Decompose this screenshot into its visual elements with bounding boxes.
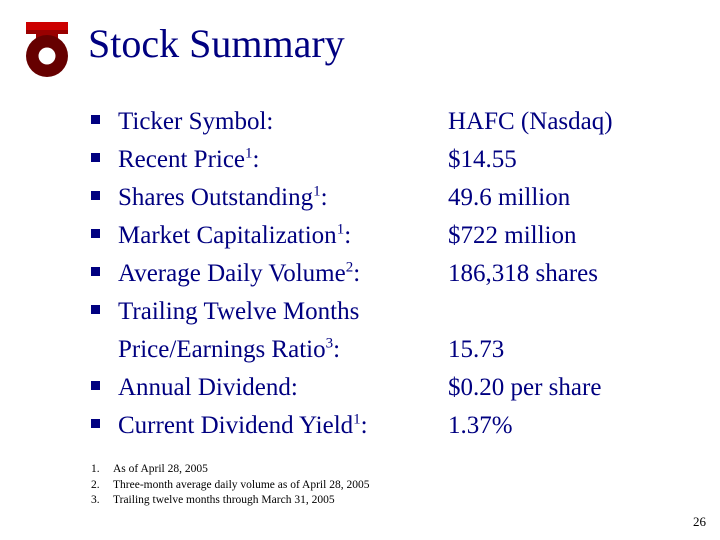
list-item-label: Price/Earnings Ratio3: bbox=[118, 332, 448, 368]
list-item-label-text: Current Dividend Yield bbox=[118, 412, 353, 439]
footnote-ref: 1 bbox=[313, 184, 321, 200]
footnote-number: 3. bbox=[91, 493, 113, 509]
bullet-marker bbox=[88, 142, 118, 162]
list-item-value: $14.55 bbox=[448, 142, 688, 178]
bullet-marker bbox=[88, 408, 118, 428]
bullet-marker-blank bbox=[88, 332, 118, 352]
footnote-text: Three-month average daily volume as of A… bbox=[113, 478, 369, 494]
slide: Stock Summary Ticker Symbol: HAFC (Nasda… bbox=[0, 0, 720, 540]
list-item-label: Trailing Twelve Months bbox=[118, 294, 448, 330]
footnote: 2. Three-month average daily volume as o… bbox=[91, 478, 369, 494]
list-item-value: $722 million bbox=[448, 218, 688, 254]
bullet-marker bbox=[88, 180, 118, 200]
list-item-label-tail: : bbox=[353, 260, 360, 287]
list-item-value: 186,318 shares bbox=[448, 256, 688, 292]
list-item-label-tail: : bbox=[253, 146, 260, 173]
footnote-ref: 1 bbox=[245, 146, 253, 162]
list-item-label-text: Average Daily Volume bbox=[118, 260, 346, 287]
list-item-value: HAFC (Nasdaq) bbox=[448, 104, 688, 140]
bullet-marker bbox=[88, 104, 118, 124]
list-item-value: 1.37% bbox=[448, 408, 688, 444]
list-item-label-tail: : bbox=[361, 412, 368, 439]
list-item-label-tail: : bbox=[321, 184, 328, 211]
footnote: 1. As of April 28, 2005 bbox=[91, 462, 369, 478]
list-item-value: 49.6 million bbox=[448, 180, 688, 216]
list-item-label-text: Market Capitalization bbox=[118, 222, 337, 249]
list-item-label-tail: : bbox=[333, 336, 340, 363]
list-item-label: Average Daily Volume2: bbox=[118, 256, 448, 292]
list-item-label: Annual Dividend: bbox=[118, 370, 448, 406]
list-item-value: $0.20 per share bbox=[448, 370, 688, 406]
list-item: Ticker Symbol: HAFC (Nasdaq) bbox=[88, 104, 688, 140]
list-item: Trailing Twelve Months bbox=[88, 294, 688, 330]
list-item-label-tail: : bbox=[344, 222, 351, 249]
footnote-ref: 3 bbox=[326, 336, 334, 352]
list-item-label-text: Recent Price bbox=[118, 146, 245, 173]
list-item: Recent Price1: $14.55 bbox=[88, 142, 688, 178]
footnote-number: 2. bbox=[91, 478, 113, 494]
footnote-text: As of April 28, 2005 bbox=[113, 462, 208, 478]
list-item-label: Shares Outstanding1: bbox=[118, 180, 448, 216]
list-item: Average Daily Volume2: 186,318 shares bbox=[88, 256, 688, 292]
hanmi-bull-logo-icon bbox=[16, 18, 78, 80]
list-item-label: Ticker Symbol: bbox=[118, 104, 448, 140]
bullet-marker bbox=[88, 218, 118, 238]
footnote-ref: 1 bbox=[353, 412, 361, 428]
list-item: Price/Earnings Ratio3: 15.73 bbox=[88, 332, 688, 368]
list-item-label: Market Capitalization1: bbox=[118, 218, 448, 254]
list-item: Market Capitalization1: $722 million bbox=[88, 218, 688, 254]
footnotes: 1. As of April 28, 2005 2. Three-month a… bbox=[91, 462, 369, 509]
list-item: Current Dividend Yield1: 1.37% bbox=[88, 408, 688, 444]
list-item: Annual Dividend: $0.20 per share bbox=[88, 370, 688, 406]
bullet-marker bbox=[88, 370, 118, 390]
bullet-marker bbox=[88, 294, 118, 314]
stock-summary-list: Ticker Symbol: HAFC (Nasdaq) Recent Pric… bbox=[88, 104, 688, 446]
list-item-value: 15.73 bbox=[448, 332, 688, 368]
footnote: 3. Trailing twelve months through March … bbox=[91, 493, 369, 509]
page-number: 26 bbox=[693, 514, 706, 530]
footnote-number: 1. bbox=[91, 462, 113, 478]
bullet-marker bbox=[88, 256, 118, 276]
list-item: Shares Outstanding1: 49.6 million bbox=[88, 180, 688, 216]
list-item-label-text: Price/Earnings Ratio bbox=[118, 336, 326, 363]
list-item-label: Recent Price1: bbox=[118, 142, 448, 178]
footnote-text: Trailing twelve months through March 31,… bbox=[113, 493, 335, 509]
page-title: Stock Summary bbox=[88, 20, 345, 67]
list-item-label-text: Shares Outstanding bbox=[118, 184, 313, 211]
list-item-label: Current Dividend Yield1: bbox=[118, 408, 448, 444]
